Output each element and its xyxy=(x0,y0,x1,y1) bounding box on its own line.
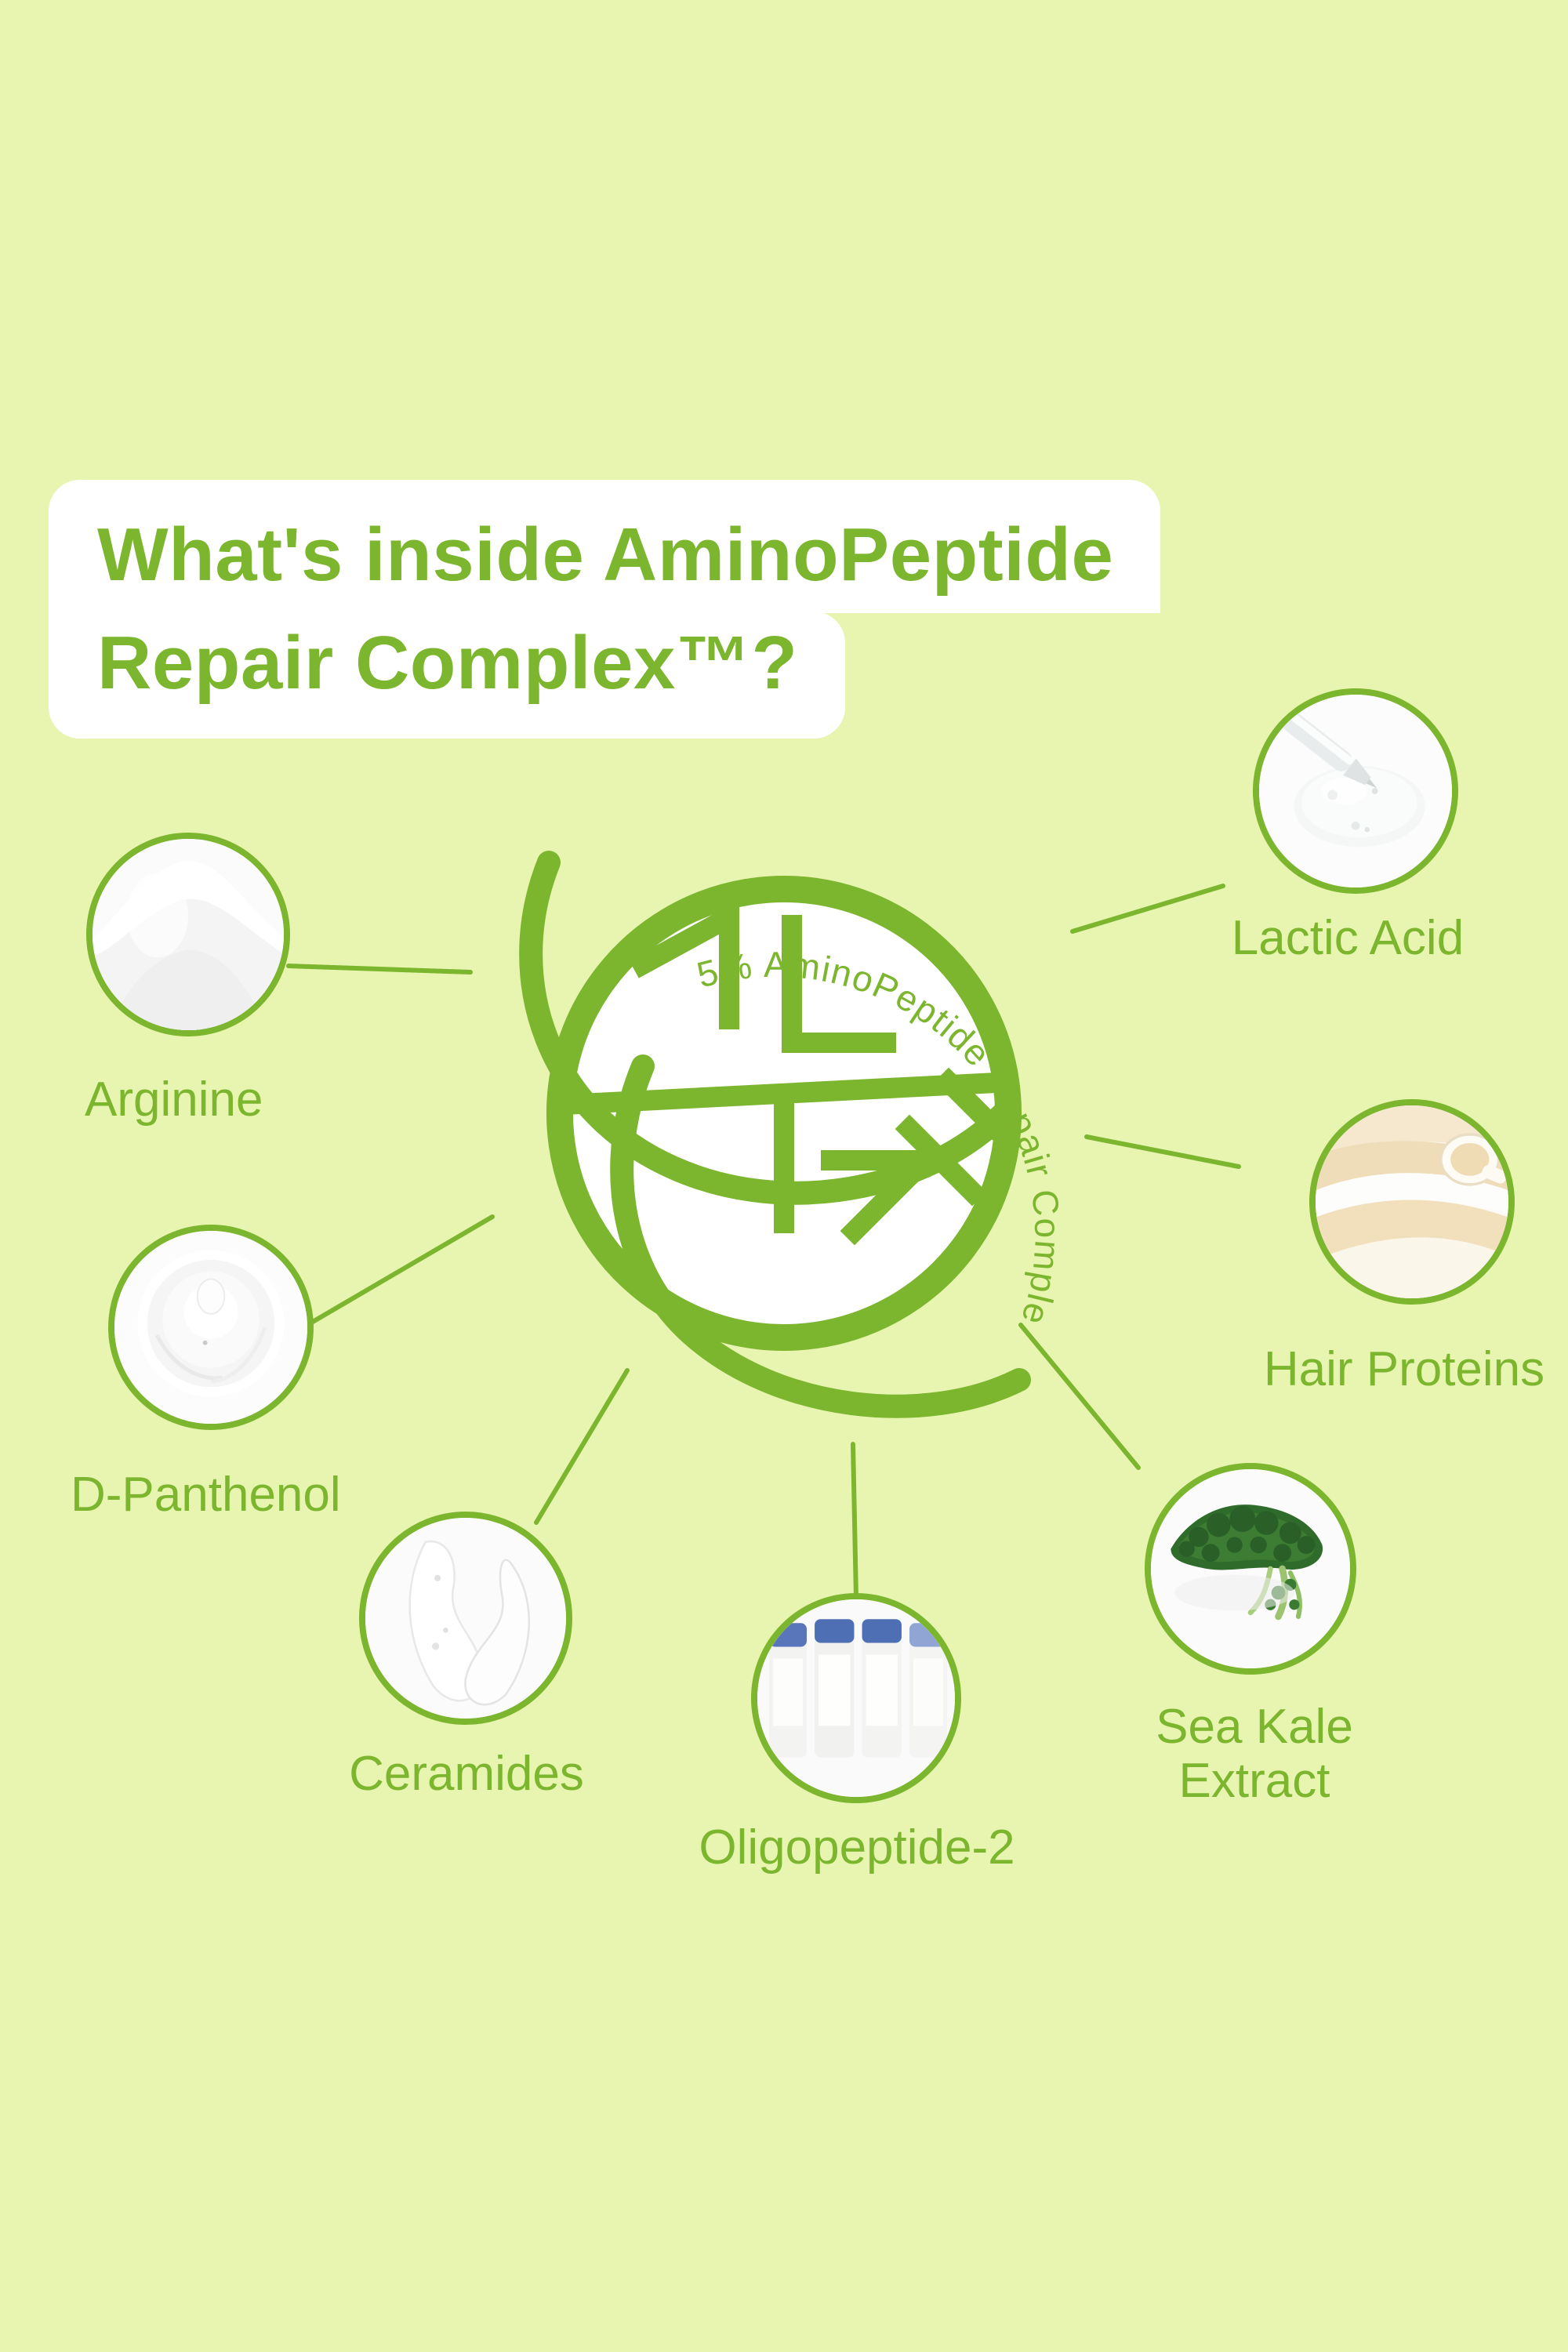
arginine-label: Arginine xyxy=(85,1073,320,1127)
arginine-bubble[interactable] xyxy=(86,833,290,1036)
hair-proteins-label: Hair Proteins xyxy=(1236,1342,1568,1396)
lactic-acid-label: Lactic Acid xyxy=(1179,911,1516,965)
kale-leaf-icon xyxy=(1151,1469,1350,1668)
white-cream-double-swirl-icon xyxy=(365,1518,566,1719)
beige-protein-powder-scoop-icon xyxy=(1316,1105,1508,1298)
connector-d-panthenol xyxy=(307,1217,492,1325)
dropper-with-gel-droplet-icon xyxy=(1259,695,1452,887)
connector-ceramides xyxy=(536,1370,627,1523)
sea-kale-extract-label: Sea Kale Extract xyxy=(1105,1700,1403,1809)
page-title: What's inside AminoPeptide Repair Comple… xyxy=(49,480,1160,739)
connector-arginine xyxy=(289,966,470,972)
page-title-line-1: What's inside AminoPeptide xyxy=(49,480,1160,613)
blue-capped-vials-icon xyxy=(757,1599,955,1797)
ceramides-bubble[interactable] xyxy=(359,1512,572,1725)
lactic-acid-bubble[interactable] xyxy=(1253,688,1458,894)
oligopeptide-2-bubble[interactable] xyxy=(751,1593,961,1803)
page-title-line-2: Repair Complex™? xyxy=(49,612,845,739)
d-panthenol-bubble[interactable] xyxy=(108,1225,314,1430)
white-cream-swirl-icon xyxy=(114,1231,307,1424)
oligopeptide-2-label: Oligopeptide-2 xyxy=(673,1820,1041,1875)
connector-hair-proteins xyxy=(1087,1137,1239,1167)
sea-kale-extract-bubble[interactable] xyxy=(1145,1463,1356,1675)
d-panthenol-label: D-Panthenol xyxy=(71,1468,384,1522)
white-powder-mound-icon xyxy=(93,839,284,1030)
hair-proteins-bubble[interactable] xyxy=(1309,1099,1515,1305)
connector-oligopeptide xyxy=(853,1444,856,1598)
connector-sea-kale xyxy=(1021,1325,1138,1468)
ceramides-label: Ceramides xyxy=(329,1747,604,1801)
